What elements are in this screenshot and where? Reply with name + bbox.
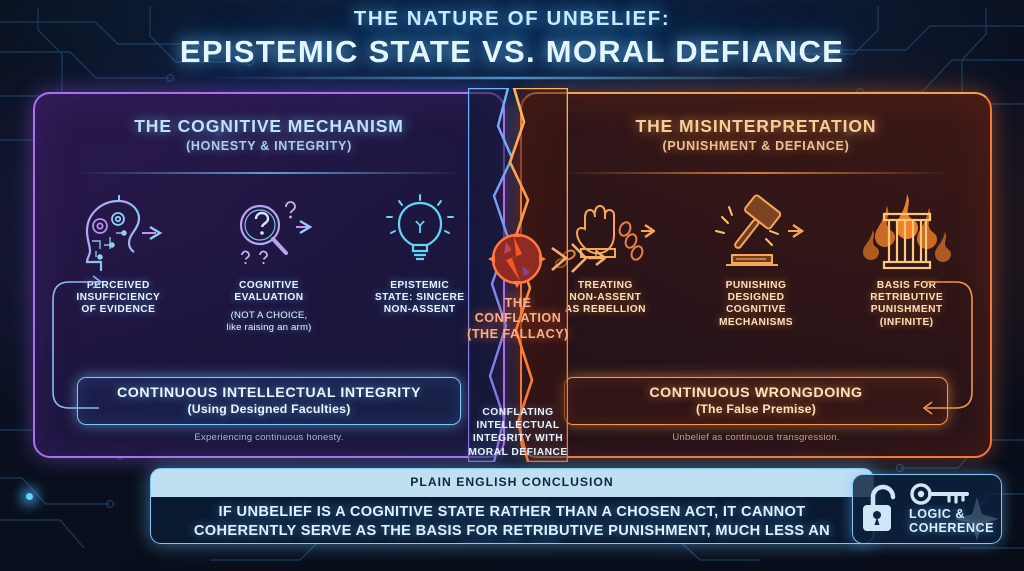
left-panel-heading-group: THE COGNITIVE MECHANISM (HONESTY & INTEG… xyxy=(35,116,503,153)
step-note-cognitive-evaluation: (NOT A CHOICE,like raising an arm) xyxy=(226,310,311,333)
step-label-cognitive-evaluation: COGNITIVEEVALUATION xyxy=(234,280,303,304)
glow-node-lower-left xyxy=(26,493,33,500)
logic-coherence-badge: LOGIC & COHERENCE xyxy=(852,474,1002,544)
right-panel-heading-group: THE MISINTERPRETATION (PUNISHMENT & DEFI… xyxy=(522,116,990,153)
right-panel-heading: THE MISINTERPRETATION xyxy=(522,116,990,137)
title-line-1: THE NATURE OF UNBELIEF: xyxy=(0,7,1024,31)
right-feedback-loop xyxy=(918,274,982,424)
left-panel-heading: THE COGNITIVE MECHANISM xyxy=(35,116,503,137)
conclusion-body: IF UNBELIEF IS A COGNITIVE STATE RATHER … xyxy=(151,496,873,544)
banner-wrongdoing-sub: (The False Premise) xyxy=(571,402,941,416)
cracked-orb-icon xyxy=(486,228,548,295)
conclusion-box: PLAIN ENGLISH CONCLUSION IF UNBELIEF IS … xyxy=(150,468,874,544)
lightbulb-icon xyxy=(377,192,463,274)
left-feedback-loop xyxy=(43,274,107,424)
right-panel-subheading: (PUNISHMENT & DEFIANCE) xyxy=(522,139,990,153)
left-panel-divider xyxy=(75,172,463,174)
banner-integrity-main: CONTINUOUS INTELLECTUAL INTEGRITY xyxy=(84,385,454,401)
title-underline xyxy=(202,77,822,79)
diamond-sparkle-icon xyxy=(955,497,999,541)
conflation-subtitle: CONFLATINGINTELLECTUALINTEGRITY WITHMORA… xyxy=(452,406,584,459)
step-label-punishing-designed: PUNISHINGDESIGNEDCOGNITIVEMECHANISMS xyxy=(719,280,793,329)
conclusion-header: PLAIN ENGLISH CONCLUSION xyxy=(151,469,873,496)
gavel-icon xyxy=(708,192,804,274)
banner-integrity-sub: (Using Designed Faculties) xyxy=(84,402,454,416)
banner-continuous-wrongdoing: CONTINUOUS WRONGDOING (The False Premise… xyxy=(564,377,948,425)
banner-wrongdoing-main: CONTINUOUS WRONGDOING xyxy=(571,385,941,401)
right-panel-divider xyxy=(562,172,950,174)
broken-arrow-icon xyxy=(550,240,606,278)
title-line-2: EPISTEMIC STATE VS. MORAL DEFIANCE xyxy=(0,34,1024,70)
step-punishing-designed: PUNISHINGDESIGNEDCOGNITIVEMECHANISMS xyxy=(681,192,832,329)
infographic-canvas: THE NATURE OF UNBELIEF: EPISTEMIC STATE … xyxy=(0,0,1024,571)
step-cognitive-evaluation: COGNITIVEEVALUATION (NOT A CHOICE,like r… xyxy=(194,192,345,333)
left-panel-subheading: (HONESTY & INTEGRITY) xyxy=(35,139,503,153)
burning-cage-icon xyxy=(859,192,955,274)
brain-head-icon xyxy=(72,192,164,274)
banner-continuous-integrity: CONTINUOUS INTELLECTUAL INTEGRITY (Using… xyxy=(77,377,461,425)
center-conflation-text: THECONFLATION(THE FALLACY) CONFLATINGINT… xyxy=(452,296,584,459)
left-panel-steps: PERCEIVEDINSUFFICIENCYOF EVIDENCE xyxy=(43,192,495,333)
caption-continuous-transgression: Unbelief as continuous transgression. xyxy=(522,432,990,443)
caption-continuous-honesty: Experiencing continuous honesty. xyxy=(35,432,503,443)
magnifying-glass-question-icon xyxy=(226,192,312,274)
open-padlock-icon xyxy=(861,483,905,535)
page-title: THE NATURE OF UNBELIEF: EPISTEMIC STATE … xyxy=(0,7,1024,79)
conflation-title: THECONFLATION(THE FALLACY) xyxy=(452,296,584,342)
panel-cognitive-mechanism: THE COGNITIVE MECHANISM (HONESTY & INTEG… xyxy=(33,92,505,458)
